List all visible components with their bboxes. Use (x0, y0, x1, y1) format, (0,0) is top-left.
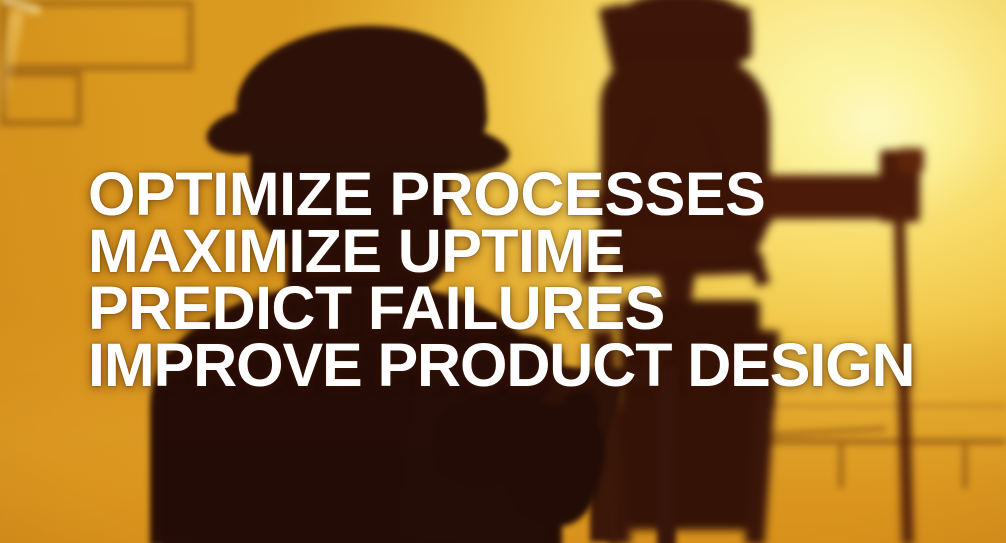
hero-banner: OPTIMIZE PROCESSES MAXIMIZE UPTIME PREDI… (0, 0, 1006, 543)
headline-line-4: IMPROVE PRODUCT DESIGN (88, 337, 968, 394)
headline-line-3: PREDICT FAILURES (88, 280, 968, 337)
headline-text-block: OPTIMIZE PROCESSES MAXIMIZE UPTIME PREDI… (88, 166, 968, 394)
headline-line-1: OPTIMIZE PROCESSES (88, 166, 968, 223)
worker-rim-light (0, 10, 24, 131)
headline-line-2: MAXIMIZE UPTIME (88, 223, 968, 280)
